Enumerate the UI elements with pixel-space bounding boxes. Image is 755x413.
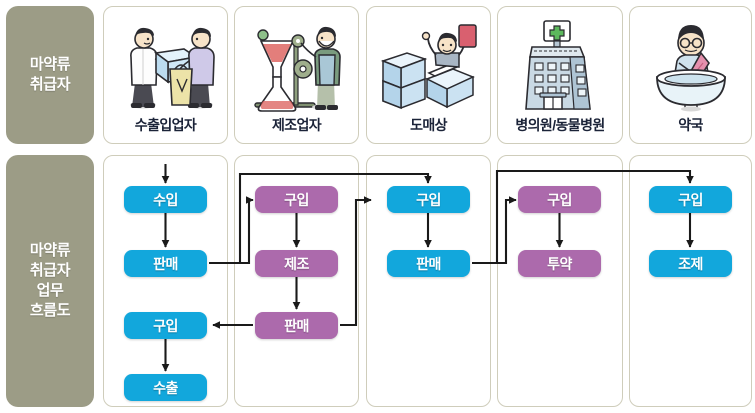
diagram-root: 마약류 취급자 마약류 취급자 업무 흐름도 bbox=[0, 0, 755, 413]
flow-node-hos-admin[interactable]: 투약 bbox=[518, 250, 601, 277]
flow-node-mfg-buy[interactable]: 구입 bbox=[255, 186, 338, 213]
actor-label-wholesaler: 도매상 bbox=[367, 115, 490, 135]
hospital-building-icon bbox=[498, 13, 622, 117]
actor-panel-hospital[interactable]: 병의원/동물병원 bbox=[497, 6, 623, 144]
flow-node-whl-sell[interactable]: 판매 bbox=[387, 250, 470, 277]
factory-chemist-icon bbox=[235, 13, 358, 117]
pharmacist-mortar-icon bbox=[630, 13, 751, 117]
warehouse-boxes-icon bbox=[367, 13, 490, 117]
flow-node-hos-buy[interactable]: 구입 bbox=[518, 186, 601, 213]
sidebar-flow-block: 마약류 취급자 업무 흐름도 bbox=[6, 155, 94, 407]
import-export-worker-icon bbox=[104, 13, 227, 117]
flow-node-mfg-make[interactable]: 제조 bbox=[255, 250, 338, 277]
sidebar-flow-label: 마약류 취급자 업무 흐름도 bbox=[30, 241, 70, 320]
flow-node-mfg-sell[interactable]: 판매 bbox=[255, 312, 338, 339]
actor-label-importer: 수출입업자 bbox=[104, 115, 227, 135]
flow-node-imp-import[interactable]: 수입 bbox=[124, 186, 207, 213]
actor-panel-manufacturer[interactable]: 제조업자 bbox=[234, 6, 359, 144]
flow-node-phr-buy[interactable]: 구입 bbox=[649, 186, 732, 213]
actor-panel-wholesaler[interactable]: 도매상 bbox=[366, 6, 491, 144]
actor-label-hospital: 병의원/동물병원 bbox=[498, 115, 622, 135]
flow-node-imp-export[interactable]: 수출 bbox=[124, 374, 207, 401]
actor-label-pharmacy: 약국 bbox=[630, 115, 751, 135]
flow-node-phr-prepare[interactable]: 조제 bbox=[649, 250, 732, 277]
flow-node-imp-sell[interactable]: 판매 bbox=[124, 250, 207, 277]
actor-panel-importer[interactable]: 수출입업자 bbox=[103, 6, 228, 144]
flow-node-imp-buy[interactable]: 구입 bbox=[124, 312, 207, 339]
flow-node-whl-buy[interactable]: 구입 bbox=[387, 186, 470, 213]
actor-panel-pharmacy[interactable]: 약국 bbox=[629, 6, 752, 144]
actor-label-manufacturer: 제조업자 bbox=[235, 115, 358, 135]
sidebar-actor-label: 마약류 취급자 bbox=[30, 55, 70, 95]
sidebar-actor-block: 마약류 취급자 bbox=[6, 6, 94, 144]
